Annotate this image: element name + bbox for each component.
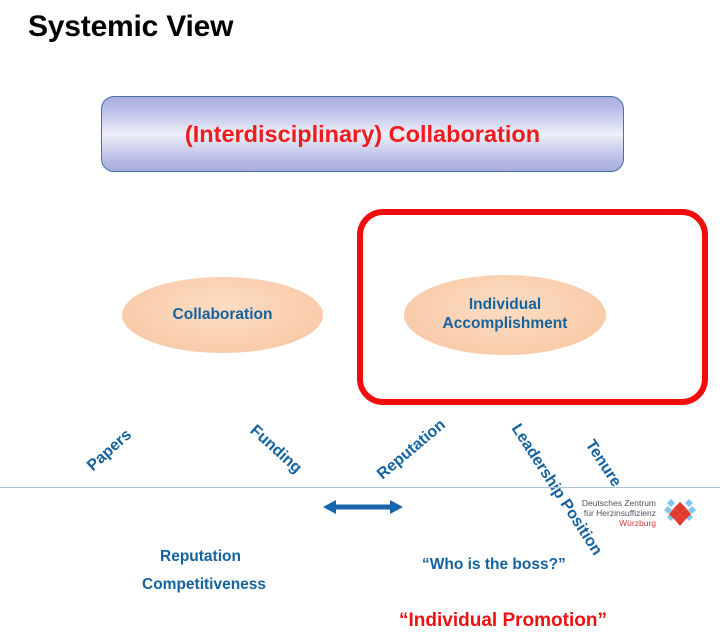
page-title: Systemic View [28,10,233,44]
node-collaboration: Collaboration [122,277,323,353]
caption-individual-promotion: “Individual Promotion” [399,610,607,632]
logo-city-label: Würzburg [548,519,656,529]
bottom-label-who-is-the-boss: “Who is the boss?” [422,556,566,574]
node-collaboration-label: Collaboration [173,306,273,325]
collaboration-banner-label: (Interdisciplinary) Collaboration [185,121,540,148]
footer-divider [0,487,720,488]
heart-diamond-logo-icon [662,498,698,530]
logo-text-block: Deutsches Zentrum für Herzinsuffizienz W… [548,499,656,528]
bottom-label-competitiveness: Competitiveness [142,576,266,594]
orbit-label-reputation-right: Reputation [374,416,450,483]
double-headed-arrow-icon [323,497,403,517]
orbit-label-papers: Papers [84,426,136,475]
systemic-view-diagram: Collaboration Papers Funding Reputation … [0,190,720,460]
node-individual-accomplishment: Individual Accomplishment [404,275,606,355]
bottom-label-reputation-left: Reputation [160,548,241,566]
orbit-label-funding: Funding [246,422,305,478]
node-individual-accomplishment-label: Individual Accomplishment [443,296,568,334]
slide-canvas: Systemic View (Interdisciplinary) Collab… [0,0,720,540]
orbit-label-tenure: Tenure [581,437,625,491]
dzhi-logo: Deutsches Zentrum für Herzinsuffizienz W… [548,494,698,534]
collaboration-banner: (Interdisciplinary) Collaboration [101,96,624,172]
